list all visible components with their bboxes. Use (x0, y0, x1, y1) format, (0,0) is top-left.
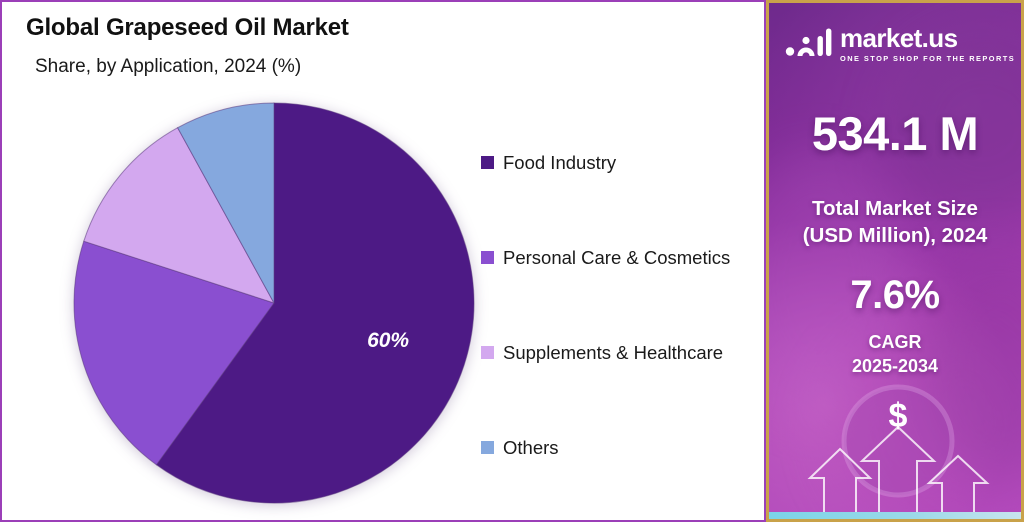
chart-panel: Global Grapeseed Oil Market Share, by Ap… (0, 0, 766, 522)
growth-arrows-icon: $ (769, 379, 1021, 519)
stat-panel: market.us ONE STOP SHOP FOR THE REPORTS … (766, 0, 1024, 522)
legend-swatch-icon (481, 156, 494, 169)
cagr-caption: CAGR 2025-2034 (769, 330, 1021, 379)
caption-line-1: Total Market Size (769, 195, 1021, 222)
legend-item-label: Food Industry (503, 152, 616, 174)
legend-swatch-icon (481, 251, 494, 264)
svg-text:$: $ (889, 397, 908, 435)
caption-line-2: (USD Million), 2024 (769, 222, 1021, 249)
page-title: Global Grapeseed Oil Market (26, 14, 349, 42)
pie-label-group: 60% (367, 329, 409, 352)
legend-item-others[interactable]: Others (481, 400, 761, 495)
chart-legend: Food Industry Personal Care & Cosmetics … (481, 115, 761, 495)
legend-swatch-icon (481, 441, 494, 454)
total-market-size-caption: Total Market Size (USD Million), 2024 (769, 195, 1021, 249)
legend-item-personal-care-cosmetics[interactable]: Personal Care & Cosmetics (481, 210, 761, 305)
legend-item-label: Others (503, 437, 559, 459)
cagr-value: 7.6% (769, 273, 1021, 318)
total-market-size-value: 534.1 M (769, 106, 1021, 161)
legend-item-label: Supplements & Healthcare (503, 342, 723, 364)
logo-tagline: ONE STOP SHOP FOR THE REPORTS (840, 54, 1015, 63)
legend-item-food-industry[interactable]: Food Industry (481, 115, 761, 210)
pie-slice-group (74, 103, 474, 503)
market-report-infographic: Global Grapeseed Oil Market Share, by Ap… (0, 0, 1024, 522)
pie-chart: 60% (70, 99, 478, 507)
logo-wordmark: market.us (840, 25, 1015, 51)
accent-bottom-bar (769, 512, 1021, 519)
pie-chart-svg: 60% (70, 99, 478, 507)
cagr-label: CAGR (769, 330, 1021, 354)
bar-chart-logo-icon (785, 27, 833, 62)
legend-item-label: Personal Care & Cosmetics (503, 247, 730, 269)
legend-swatch-icon (481, 346, 494, 359)
legend-item-supplements-healthcare[interactable]: Supplements & Healthcare (481, 305, 761, 400)
pie-slice-label: 60% (367, 329, 409, 352)
market-us-logo[interactable]: market.us ONE STOP SHOP FOR THE REPORTS (785, 25, 1015, 63)
chart-subtitle: Share, by Application, 2024 (%) (35, 56, 301, 78)
cagr-period: 2025-2034 (769, 354, 1021, 378)
